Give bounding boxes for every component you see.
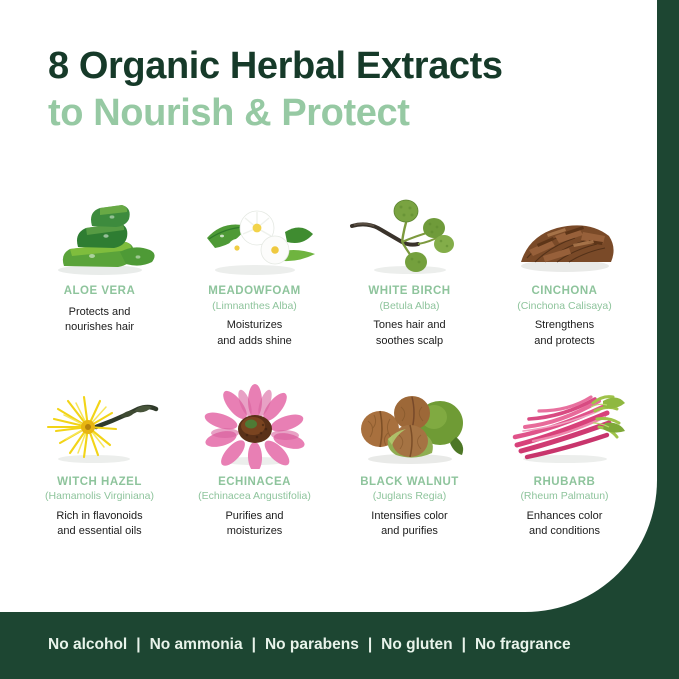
page-title: 8 Organic Herbal Extracts to Nourish & P… bbox=[48, 44, 503, 136]
ingredient-latin-name: (Juglans Regia) bbox=[373, 490, 447, 504]
ingredient-description: Purifies and moisturizes bbox=[225, 509, 283, 539]
ingredient-latin-name: (Betula Alba) bbox=[379, 300, 439, 314]
claim-no-parabens: No parabens bbox=[265, 636, 359, 654]
herbal-extracts-infographic: 8 Organic Herbal Extracts to Nourish & P… bbox=[0, 0, 679, 679]
claim-separator: | bbox=[136, 636, 140, 654]
ingredient-description: Rich in flavonoids and essential oils bbox=[56, 509, 142, 539]
ingredient-name: WITCH HAZEL bbox=[57, 475, 142, 490]
claim-separator: | bbox=[462, 636, 466, 654]
black-walnut-illustration bbox=[344, 383, 476, 469]
ingredient-description: Tones hair and soothes scalp bbox=[373, 318, 445, 348]
claims-list: No alcohol | No ammonia | No parabens | … bbox=[48, 636, 571, 654]
ingredient-description: Enhances color and conditions bbox=[527, 509, 603, 539]
ingredient-latin-name: (Limnanthes Alba) bbox=[212, 300, 297, 314]
ingredient-latin-name: (Hamamolis Virginiana) bbox=[45, 490, 154, 504]
white-birch-branch-illustration bbox=[344, 192, 476, 278]
ingredient-description: Moisturizes and adds shine bbox=[217, 318, 292, 348]
ingredient-latin-name: (Echinacea Angustifolia) bbox=[198, 490, 311, 504]
witch-hazel-flower-illustration bbox=[34, 383, 166, 469]
claims-footer: No alcohol | No ammonia | No parabens | … bbox=[0, 610, 679, 679]
title-line-primary: 8 Organic Herbal Extracts bbox=[48, 44, 503, 89]
ingredient-name: WHITE BIRCH bbox=[368, 284, 450, 299]
cinchona-bark-illustration bbox=[499, 192, 631, 278]
claim-no-ammonia: No ammonia bbox=[150, 636, 243, 654]
ingredient-description: Strengthens and protects bbox=[534, 318, 595, 348]
claim-no-fragrance: No fragrance bbox=[475, 636, 571, 654]
ingredient-description: Intensifies color and purifies bbox=[371, 509, 447, 539]
claim-no-alcohol: No alcohol bbox=[48, 636, 127, 654]
ingredient-card: ALOE VERA Protects and nourishes hair bbox=[22, 192, 177, 349]
ingredient-name: ECHINACEA bbox=[218, 475, 291, 490]
ingredient-card: WHITE BIRCH (Betula Alba) Tones hair and… bbox=[332, 192, 487, 349]
ingredient-name: ALOE VERA bbox=[64, 284, 136, 299]
ingredient-name: CINCHONA bbox=[532, 284, 598, 299]
aloe-vera-illustration bbox=[34, 192, 166, 278]
claim-separator: | bbox=[368, 636, 372, 654]
claim-no-gluten: No gluten bbox=[381, 636, 452, 654]
ingredient-latin-name: (Cinchona Calisaya) bbox=[517, 300, 612, 314]
ingredient-card: MEADOWFOAM (Limnanthes Alba) Moisturizes… bbox=[177, 192, 332, 349]
ingredient-name: BLACK WALNUT bbox=[360, 475, 459, 490]
ingredient-description: Protects and nourishes hair bbox=[65, 305, 134, 335]
claim-separator: | bbox=[252, 636, 256, 654]
ingredient-card: BLACK WALNUT (Juglans Regia) Intensifies… bbox=[332, 383, 487, 540]
ingredient-card: WITCH HAZEL (Hamamolis Virginiana) Rich … bbox=[22, 383, 177, 540]
title-line-secondary: to Nourish & Protect bbox=[48, 91, 503, 136]
ingredients-grid: ALOE VERA Protects and nourishes hair bbox=[22, 192, 642, 539]
echinacea-flower-illustration bbox=[189, 383, 321, 469]
ingredient-card: CINCHONA (Cinchona Calisaya) Strengthens… bbox=[487, 192, 642, 349]
ingredient-card: RHUBARB (Rheum Palmatun) Enhances color … bbox=[487, 383, 642, 540]
ingredient-name: RHUBARB bbox=[534, 475, 596, 490]
rhubarb-stalks-illustration bbox=[499, 383, 631, 469]
meadowfoam-flower-illustration bbox=[189, 192, 321, 278]
ingredient-card: ECHINACEA (Echinacea Angustifolia) Purif… bbox=[177, 383, 332, 540]
ingredient-latin-name: (Rheum Palmatun) bbox=[520, 490, 608, 504]
ingredient-name: MEADOWFOAM bbox=[208, 284, 301, 299]
